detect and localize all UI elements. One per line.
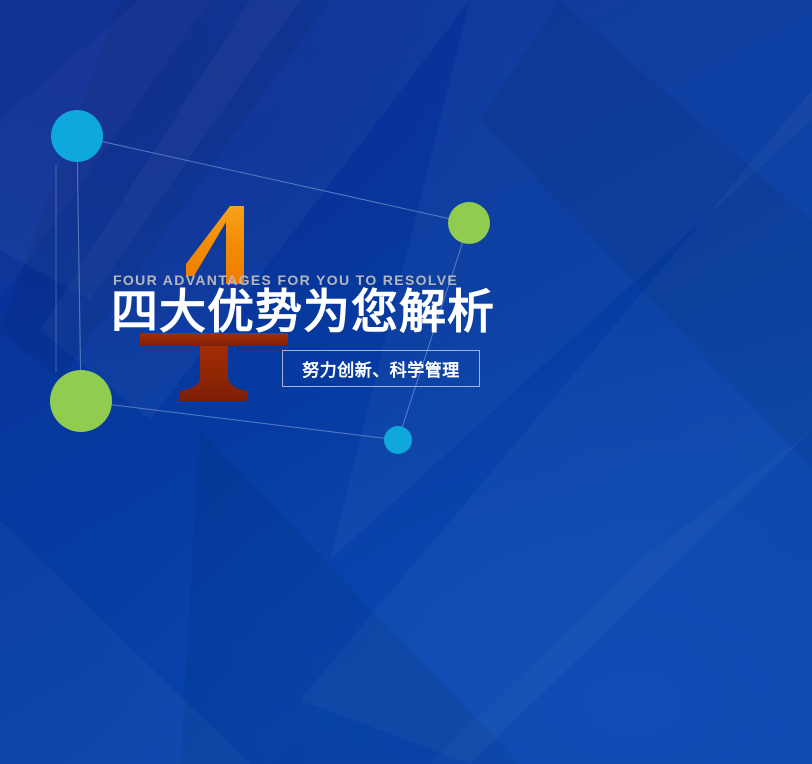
banner-content: FOUR ADVANTAGES FOR YOU TO RESOLVE 四大优势为… [0, 0, 812, 764]
pedestal-icon [140, 333, 288, 401]
cta-button[interactable]: 努力创新、科学管理 [282, 350, 480, 387]
promo-banner: FOUR ADVANTAGES FOR YOU TO RESOLVE 四大优势为… [0, 0, 812, 764]
page-title: 四大优势为您解析 [111, 287, 495, 339]
